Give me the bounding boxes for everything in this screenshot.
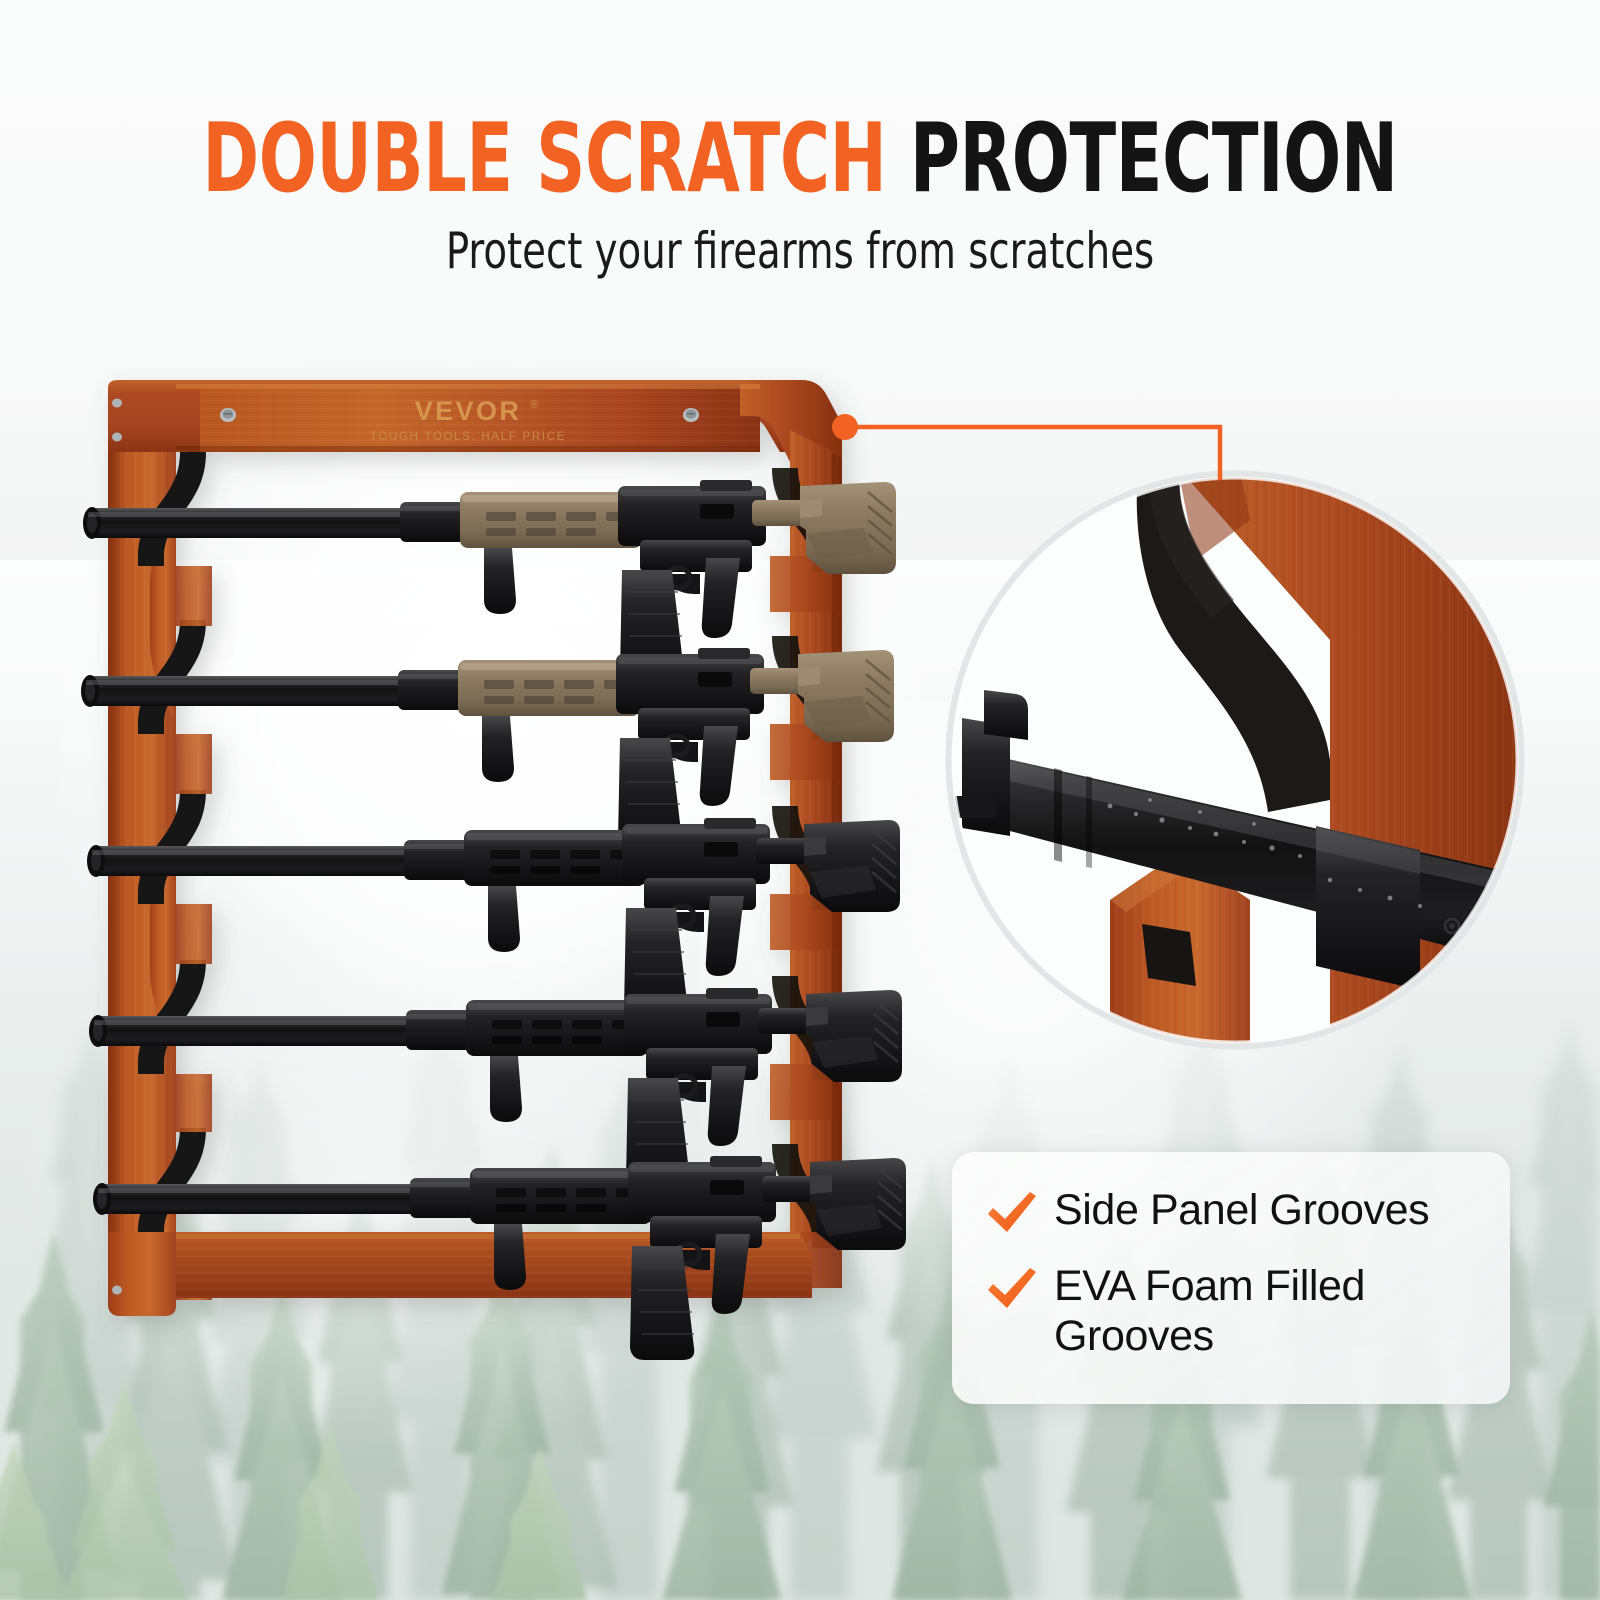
rifle-foregrip bbox=[484, 548, 516, 614]
rack-top-board: VEVOR ® TOUGH TOOLS. HALF PRICE bbox=[108, 380, 842, 462]
mounting-screw bbox=[683, 408, 699, 422]
rifle-pistol-grip bbox=[706, 896, 744, 976]
poster-canvas: DOUBLE SCRATCH PROTECTION Protect your f… bbox=[0, 0, 1600, 1600]
feature-label: EVA Foam Filled Grooves bbox=[1054, 1262, 1480, 1362]
rifle-pistol-grip bbox=[700, 726, 738, 806]
brand-registered-mark: ® bbox=[530, 399, 538, 411]
rifle-foregrip bbox=[490, 1056, 522, 1122]
mounting-screw bbox=[112, 1286, 122, 1295]
mounting-screw bbox=[112, 433, 122, 442]
feature-item-side-panel-grooves: Side Panel Grooves bbox=[986, 1186, 1480, 1236]
check-icon bbox=[986, 1190, 1038, 1236]
brand-name: VEVOR bbox=[415, 396, 522, 426]
mounting-screw bbox=[112, 399, 122, 408]
rifle-foregrip bbox=[482, 716, 514, 782]
feature-label: Side Panel Grooves bbox=[1054, 1186, 1429, 1236]
check-icon bbox=[986, 1266, 1038, 1312]
rifle-foregrip bbox=[488, 886, 520, 952]
feature-card: Side Panel Grooves EVA Foam Filled Groov… bbox=[952, 1152, 1510, 1404]
rifle-buttstock bbox=[798, 650, 894, 742]
mounting-screw bbox=[220, 408, 236, 422]
rifle-buttstock bbox=[806, 990, 902, 1082]
rifle-pistol-grip bbox=[712, 1234, 750, 1314]
rifle-pistol-grip bbox=[702, 558, 740, 638]
brand-tagline: TOUGH TOOLS. HALF PRICE bbox=[370, 431, 566, 443]
rifle-foregrip bbox=[494, 1224, 526, 1290]
rifle-buttstock bbox=[804, 820, 900, 912]
rifle-buttstock bbox=[800, 482, 896, 574]
feature-item-eva-foam-filled-grooves: EVA Foam Filled Grooves bbox=[986, 1262, 1480, 1362]
rifle-pistol-grip bbox=[708, 1066, 746, 1146]
magnifier-closeup bbox=[949, 468, 1560, 1060]
rifle-buttstock bbox=[810, 1158, 906, 1250]
